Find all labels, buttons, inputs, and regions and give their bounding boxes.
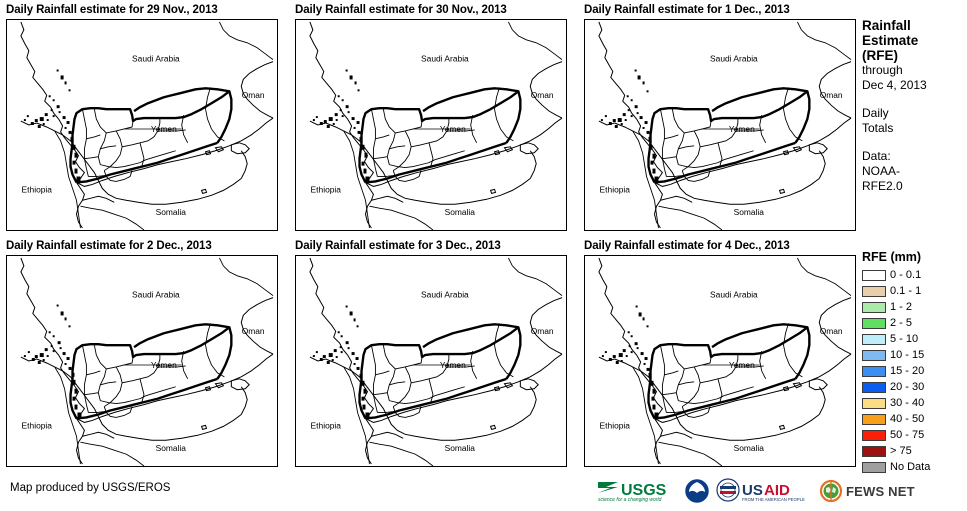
label-saudi-arabia: Saudi Arabia — [421, 290, 469, 300]
map-panel-4[interactable]: Daily Rainfall estimate for 2 Dec., 2013 — [0, 238, 282, 473]
fews-net-logo[interactable]: FEWS NET — [819, 476, 915, 506]
label-yemen: Yemen — [440, 360, 466, 370]
fews-net-logo-icon — [819, 479, 843, 503]
map-panel-title: Daily Rainfall estimate for 4 Dec., 2013 — [578, 238, 860, 255]
map-panel-title: Daily Rainfall estimate for 30 Nov., 201… — [289, 2, 571, 19]
map-panel-2[interactable]: Daily Rainfall estimate for 30 Nov., 201… — [289, 2, 571, 237]
label-ethiopia: Ethiopia — [22, 420, 53, 430]
rainfall-pixels — [24, 70, 81, 182]
map-canvas[interactable]: Saudi Arabia Oman Yemen Ethiopia Somalia — [6, 255, 278, 467]
rainfall-pixels — [602, 306, 659, 418]
label-ethiopia: Ethiopia — [22, 184, 53, 194]
legend-swatch — [862, 318, 886, 329]
legend-label: 0.1 - 1 — [890, 286, 921, 297]
legend-item: 50 - 75 — [862, 427, 967, 443]
rainfall-pixels — [313, 70, 370, 182]
yemen-basemap: Saudi Arabia Oman Yemen Ethiopia Somalia — [296, 20, 566, 230]
rainfall-pixels — [601, 70, 659, 182]
map-panel-6[interactable]: Daily Rainfall estimate for 4 Dec., 2013 — [578, 238, 860, 473]
label-ethiopia: Ethiopia — [600, 420, 631, 430]
legend-title: RFE (mm) — [862, 250, 967, 264]
usgs-logo-icon: USGS science for a changing world — [596, 479, 678, 503]
label-somalia: Somalia — [445, 443, 476, 453]
data-source-line2: RFE2.0 — [862, 179, 967, 194]
map-canvas[interactable]: Saudi Arabia Oman Yemen Ethiopia Somalia — [6, 19, 278, 231]
rfe-title: Rainfall Estimate (RFE) through Dec 4, 2… — [862, 0, 967, 93]
legend-swatch — [862, 382, 886, 393]
map-panel-3[interactable]: Daily Rainfall estimate for 1 Dec., 2013 — [578, 2, 860, 237]
noaa-logo[interactable] — [685, 476, 709, 506]
legend-item-list: 0 - 0.10.1 - 11 - 22 - 55 - 1010 - 1515 … — [862, 267, 967, 475]
legend-swatch — [862, 350, 886, 361]
label-somalia: Somalia — [734, 443, 765, 453]
legend-label: 0 - 0.1 — [890, 270, 921, 281]
map-panel-1[interactable]: Daily Rainfall estimate for 29 Nov., 201… — [0, 2, 282, 237]
legend-item: 10 - 15 — [862, 347, 967, 363]
label-saudi-arabia: Saudi Arabia — [710, 290, 758, 300]
legend-swatch — [862, 462, 886, 473]
legend-item: No Data — [862, 459, 967, 475]
legend-item: 40 - 50 — [862, 411, 967, 427]
label-yemen: Yemen — [151, 124, 177, 134]
rfe-title-line3: (RFE) — [862, 48, 967, 63]
legend-label: > 75 — [890, 446, 912, 457]
label-oman: Oman — [242, 90, 265, 100]
map-canvas[interactable]: Saudi Arabia Oman Yemen Ethiopia Somalia — [295, 19, 567, 231]
legend-swatch — [862, 398, 886, 409]
legend-swatch — [862, 446, 886, 457]
legend-item: 1 - 2 — [862, 299, 967, 315]
map-canvas[interactable]: Saudi Arabia Oman Yemen Ethiopia Somalia — [584, 255, 856, 467]
legend-item: > 75 — [862, 443, 967, 459]
noaa-logo-icon — [685, 479, 709, 503]
yemen-basemap: Saudi Arabia Oman Yemen Ethiopia Somalia — [585, 20, 855, 230]
data-source-block: Data: NOAA- RFE2.0 — [862, 149, 967, 194]
yemen-basemap: Saudi Arabia Oman Yemen Ethiopia Somalia — [7, 256, 277, 466]
label-saudi-arabia: Saudi Arabia — [132, 54, 180, 64]
legend-label: 5 - 10 — [890, 334, 918, 345]
legend-swatch — [862, 286, 886, 297]
label-yemen: Yemen — [729, 360, 755, 370]
data-label: Data: — [862, 149, 967, 164]
legend-item: 0 - 0.1 — [862, 267, 967, 283]
label-ethiopia: Ethiopia — [600, 184, 631, 194]
legend-label: 20 - 30 — [890, 382, 924, 393]
map-panel-5[interactable]: Daily Rainfall estimate for 3 Dec., 2013 — [289, 238, 571, 473]
label-somalia: Somalia — [156, 207, 187, 217]
map-canvas[interactable]: Saudi Arabia Oman Yemen Ethiopia Somalia — [295, 255, 567, 467]
legend-item: 5 - 10 — [862, 331, 967, 347]
label-yemen: Yemen — [729, 124, 755, 134]
legend-label: 40 - 50 — [890, 414, 924, 425]
legend-item: 0.1 - 1 — [862, 283, 967, 299]
legend-label: 30 - 40 — [890, 398, 924, 409]
label-yemen: Yemen — [440, 124, 466, 134]
usaid-logo-icon: US AID FROM THE AMERICAN PEOPLE — [716, 478, 812, 504]
legend-swatch — [862, 302, 886, 313]
legend-swatch — [862, 270, 886, 281]
map-panel-title: Daily Rainfall estimate for 1 Dec., 2013 — [578, 2, 860, 19]
legend-label: 10 - 15 — [890, 350, 924, 361]
label-ethiopia: Ethiopia — [311, 420, 342, 430]
label-somalia: Somalia — [445, 207, 476, 217]
rfe-title-line1: Rainfall — [862, 18, 967, 33]
svg-text:science for a changing world: science for a changing world — [598, 497, 662, 503]
label-yemen: Yemen — [151, 360, 177, 370]
svg-text:FROM THE AMERICAN PEOPLE: FROM THE AMERICAN PEOPLE — [742, 497, 805, 502]
legend-swatch — [862, 430, 886, 441]
totals-block: Daily Totals — [862, 106, 967, 136]
fews-net-label: FEWS NET — [846, 484, 915, 499]
label-somalia: Somalia — [734, 207, 765, 217]
legend-swatch — [862, 366, 886, 377]
legend-label: 2 - 5 — [890, 318, 912, 329]
totals-line1: Daily — [862, 106, 967, 121]
label-oman: Oman — [820, 90, 843, 100]
rfe-title-line2: Estimate — [862, 33, 967, 48]
label-ethiopia: Ethiopia — [311, 184, 342, 194]
label-saudi-arabia: Saudi Arabia — [710, 54, 758, 64]
rfe-through: through — [862, 63, 967, 78]
legend-label: No Data — [890, 462, 930, 473]
partner-logos: USGS science for a changing world US AID… — [596, 474, 915, 508]
map-canvas[interactable]: Saudi Arabia Oman Yemen Ethiopia Somalia — [584, 19, 856, 231]
map-panel-title: Daily Rainfall estimate for 3 Dec., 2013 — [289, 238, 571, 255]
label-saudi-arabia: Saudi Arabia — [421, 54, 469, 64]
yemen-basemap: Saudi Arabia Oman Yemen Ethiopia Somalia — [585, 256, 855, 466]
rfe-through-date: Dec 4, 2013 — [862, 78, 967, 93]
map-panel-title: Daily Rainfall estimate for 29 Nov., 201… — [0, 2, 282, 19]
rainfall-pixels — [313, 306, 370, 418]
legend-swatch — [862, 334, 886, 345]
rfe-legend: RFE (mm) 0 - 0.10.1 - 11 - 22 - 55 - 101… — [862, 250, 967, 475]
legend-swatch — [862, 414, 886, 425]
label-oman: Oman — [820, 326, 843, 336]
legend-item: 2 - 5 — [862, 315, 967, 331]
legend-item: 30 - 40 — [862, 395, 967, 411]
label-oman: Oman — [531, 326, 554, 336]
yemen-basemap: Saudi Arabia Oman Yemen Ethiopia Somalia — [296, 256, 566, 466]
map-panel-title: Daily Rainfall estimate for 2 Dec., 2013 — [0, 238, 282, 255]
label-oman: Oman — [242, 326, 265, 336]
legend-label: 50 - 75 — [890, 430, 924, 441]
totals-line2: Totals — [862, 121, 967, 136]
label-saudi-arabia: Saudi Arabia — [132, 290, 180, 300]
legend-label: 15 - 20 — [890, 366, 924, 377]
yemen-basemap: Saudi Arabia Oman Yemen Ethiopia Somalia — [7, 20, 277, 230]
usgs-logo[interactable]: USGS science for a changing world — [596, 476, 678, 506]
label-oman: Oman — [531, 90, 554, 100]
map-panel-grid: Daily Rainfall estimate for 29 Nov., 201… — [0, 0, 856, 470]
legend-label: 1 - 2 — [890, 302, 912, 313]
label-somalia: Somalia — [156, 443, 187, 453]
legend-item: 20 - 30 — [862, 379, 967, 395]
usaid-logo[interactable]: US AID FROM THE AMERICAN PEOPLE — [716, 476, 812, 506]
info-sidebar: Rainfall Estimate (RFE) through Dec 4, 2… — [862, 0, 967, 470]
legend-item: 15 - 20 — [862, 363, 967, 379]
map-credit: Map produced by USGS/EROS — [10, 482, 170, 494]
data-source-line1: NOAA- — [862, 164, 967, 179]
